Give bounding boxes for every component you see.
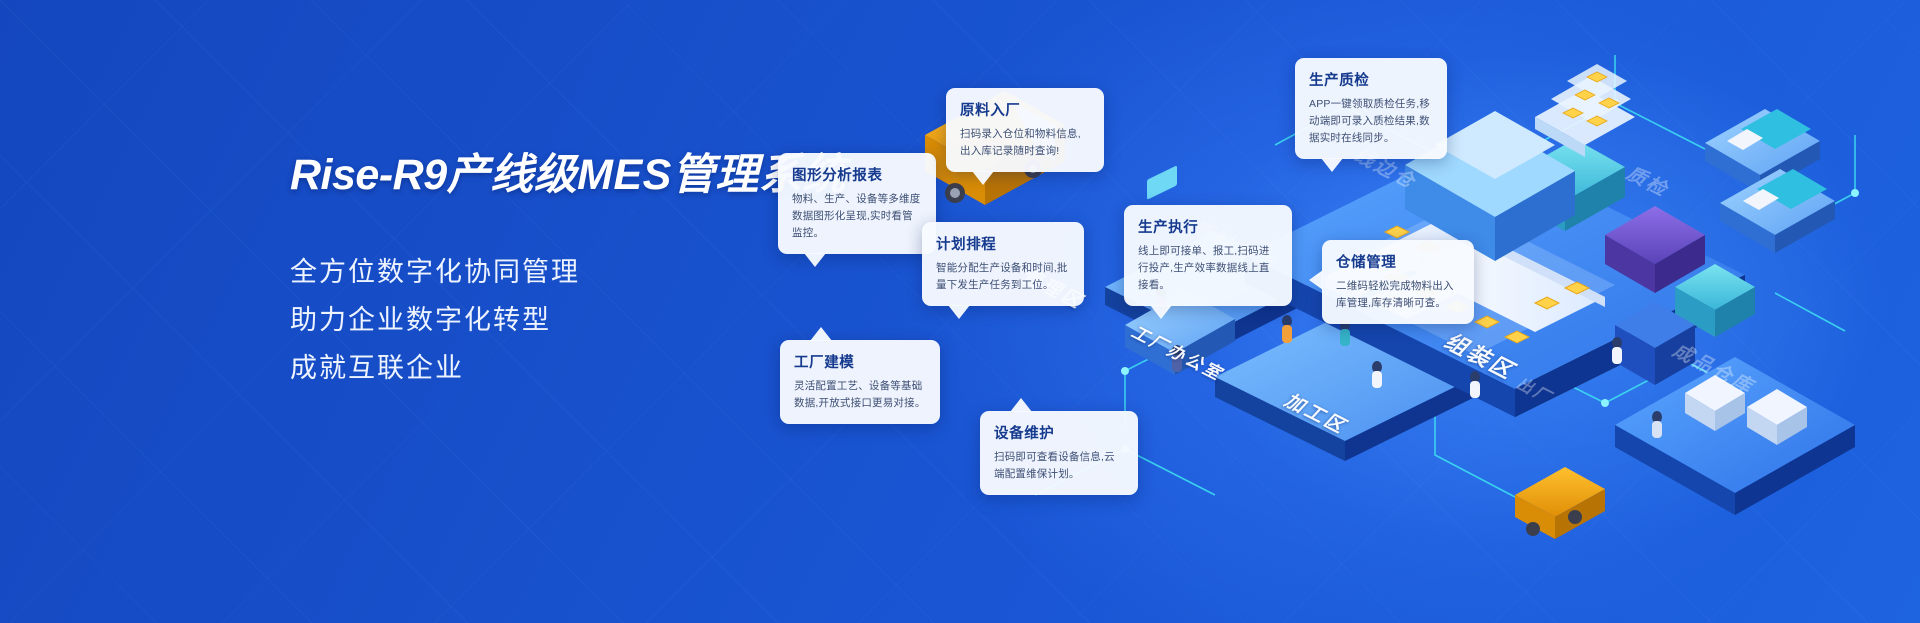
callout-title: 生产执行	[1138, 216, 1278, 237]
callout-body: 物料、生产、设备等多维度数据图形化呈现,实时看管监控。	[792, 191, 922, 242]
hero-banner: Rise-R9产线级MES管理系统 全方位数字化协同管理 助力企业数字化转型 成…	[0, 0, 1920, 623]
callout-body: 灵活配置工艺、设备等基础数据,开放式接口更易对接。	[794, 378, 926, 412]
delivery-truck-outbound	[1515, 467, 1605, 539]
callout-production-quality-inspection[interactable]: 生产质检 APP一键领取质检任务,移动端即可录入质检结果,数据实时在线同步。	[1295, 58, 1447, 159]
callout-title: 原料入厂	[960, 99, 1090, 120]
callout-raw-material-inbound[interactable]: 原料入厂 扫码录入仓位和物料信息,出入库记录随时查询!	[946, 88, 1104, 172]
finished-goods-warehouse	[1615, 302, 1855, 595]
callout-planning-scheduling[interactable]: 计划排程 智能分配生产设备和时间,批量下发生产任务到工位。	[922, 222, 1084, 306]
quality-inspection-desks	[1705, 109, 1835, 253]
callout-tail	[1309, 270, 1323, 290]
callout-tail	[1321, 158, 1343, 172]
callout-warehouse-management[interactable]: 仓储管理 二维码轻松完成物料出入库管理,库存清晰可查。	[1322, 240, 1474, 324]
callout-body: 二维码轻松完成物料出入库管理,库存清晰可查。	[1336, 278, 1460, 312]
callout-factory-modeling[interactable]: 工厂建模 灵活配置工艺、设备等基础数据,开放式接口更易对接。	[780, 340, 940, 424]
callout-tail	[1150, 305, 1172, 319]
callout-graphical-analysis-report[interactable]: 图形分析报表 物料、生产、设备等多维度数据图形化呈现,实时看管监控。	[778, 153, 936, 254]
callout-tail	[810, 327, 832, 341]
callout-tail	[948, 305, 970, 319]
callout-tail	[804, 253, 826, 267]
callout-production-execution[interactable]: 生产执行 线上即可接单、报工,扫码进行投产,生产效率数据线上直接看。	[1124, 205, 1292, 306]
callout-title: 设备维护	[994, 422, 1124, 443]
callout-body: 扫码即可查看设备信息,云端配置维保计划。	[994, 449, 1124, 483]
callout-body: APP一键领取质检任务,移动端即可录入质检结果,数据实时在线同步。	[1309, 96, 1433, 147]
callout-title: 图形分析报表	[792, 164, 922, 185]
callout-tail	[1010, 398, 1032, 412]
callout-title: 工厂建模	[794, 351, 926, 372]
page-title-en: Rise-R9	[290, 151, 447, 199]
callout-equipment-maintenance[interactable]: 设备维护 扫码即可查看设备信息,云端配置维保计划。	[980, 411, 1138, 495]
callout-body: 智能分配生产设备和时间,批量下发生产任务到工位。	[936, 260, 1070, 294]
callout-title: 计划排程	[936, 233, 1070, 254]
callout-body: 扫码录入仓位和物料信息,出入库记录随时查询!	[960, 126, 1090, 160]
callout-title: 仓储管理	[1336, 251, 1460, 272]
callout-tail	[972, 171, 994, 185]
callout-body: 线上即可接单、报工,扫码进行投产,生产效率数据线上直接看。	[1138, 243, 1278, 294]
callout-title: 生产质检	[1309, 69, 1433, 90]
